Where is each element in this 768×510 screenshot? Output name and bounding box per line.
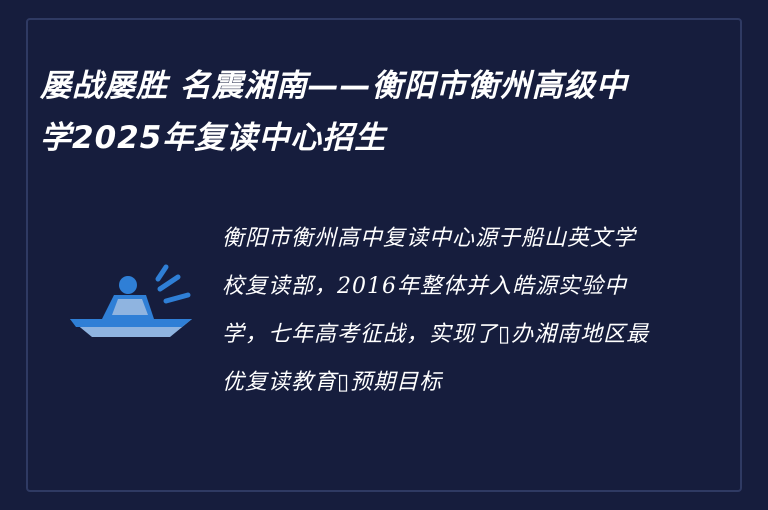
- promo-card: 屡战屡胜 名震湘南——衡阳市衡州高级中学2025年复读中心招生 衡阳市衡州高中复…: [0, 0, 768, 510]
- body-paragraph: 衡阳市衡州高中复读中心源于船山英文学校复读部，2016年整体并入皓源实验中学，七…: [222, 215, 654, 407]
- speedboat-illustration: [62, 245, 202, 355]
- page-title: 屡战屡胜 名震湘南——衡阳市衡州高级中学2025年复读中心招生: [40, 60, 630, 164]
- card-body: 衡阳市衡州高中复读中心源于船山英文学校复读部，2016年整体并入皓源实验中学，七…: [0, 205, 768, 465]
